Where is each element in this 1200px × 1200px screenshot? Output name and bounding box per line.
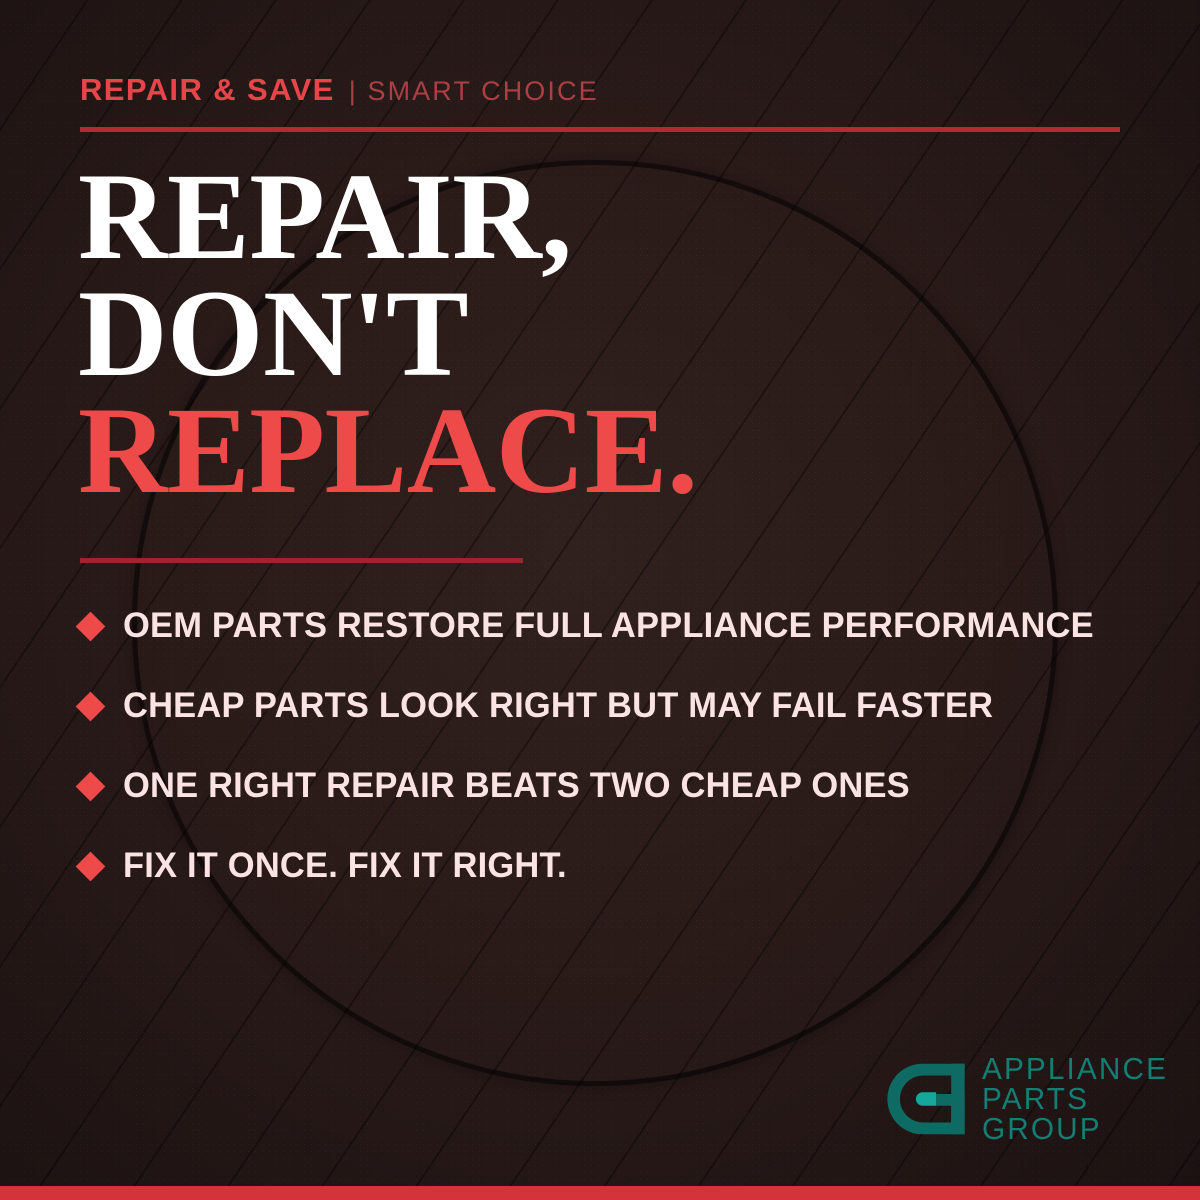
list-item-label: FIX IT ONCE. FIX IT RIGHT. bbox=[123, 846, 567, 886]
promo-poster: REPAIR & SAVE | SMART CHOICE REPAIR, DON… bbox=[0, 0, 1200, 1200]
diamond-bullet-icon bbox=[76, 611, 106, 641]
bottom-accent-bar bbox=[0, 1186, 1200, 1200]
headline-line-1: REPAIR, bbox=[78, 158, 1138, 275]
kicker-sub-label: | SMART CHOICE bbox=[349, 76, 599, 107]
kicker-main-label: REPAIR & SAVE bbox=[80, 72, 335, 108]
list-item-label: CHEAP PARTS LOOK RIGHT BUT MAY FAIL FAST… bbox=[123, 686, 993, 726]
g-monogram-icon bbox=[884, 1057, 968, 1141]
diamond-bullet-icon bbox=[76, 851, 106, 881]
list-item: OEM PARTS RESTORE FULL APPLIANCE PERFORM… bbox=[80, 586, 1150, 666]
list-item-label: ONE RIGHT REPAIR BEATS TWO CHEAP ONES bbox=[123, 766, 910, 806]
kicker-row: REPAIR & SAVE | SMART CHOICE bbox=[80, 72, 599, 108]
diamond-bullet-icon bbox=[76, 691, 106, 721]
list-item-label: OEM PARTS RESTORE FULL APPLIANCE PERFORM… bbox=[123, 606, 1094, 646]
list-item: FIX IT ONCE. FIX IT RIGHT. bbox=[80, 826, 1150, 906]
headline-underline-rule bbox=[80, 558, 523, 563]
list-item: CHEAP PARTS LOOK RIGHT BUT MAY FAIL FAST… bbox=[80, 666, 1150, 746]
brand-wordmark: APPLIANCE PARTS GROUP bbox=[982, 1054, 1176, 1144]
list-item: ONE RIGHT REPAIR BEATS TWO CHEAP ONES bbox=[80, 746, 1150, 826]
headline-line-3: REPLACE. bbox=[78, 392, 1138, 509]
brand-logo: APPLIANCE PARTS GROUP bbox=[884, 1054, 1176, 1144]
benefits-list: OEM PARTS RESTORE FULL APPLIANCE PERFORM… bbox=[80, 586, 1150, 906]
headline-line-2: DON'T bbox=[78, 275, 1138, 392]
poster-content: REPAIR & SAVE | SMART CHOICE REPAIR, DON… bbox=[0, 0, 1200, 1200]
brand-word-group: GROUP bbox=[982, 1114, 1168, 1144]
brand-word-parts: PARTS bbox=[982, 1084, 1168, 1114]
header-divider-rule bbox=[80, 127, 1120, 132]
brand-word-appliance: APPLIANCE bbox=[982, 1054, 1168, 1084]
page-title: REPAIR, DON'T REPLACE. bbox=[78, 158, 1138, 510]
diamond-bullet-icon bbox=[76, 771, 106, 801]
